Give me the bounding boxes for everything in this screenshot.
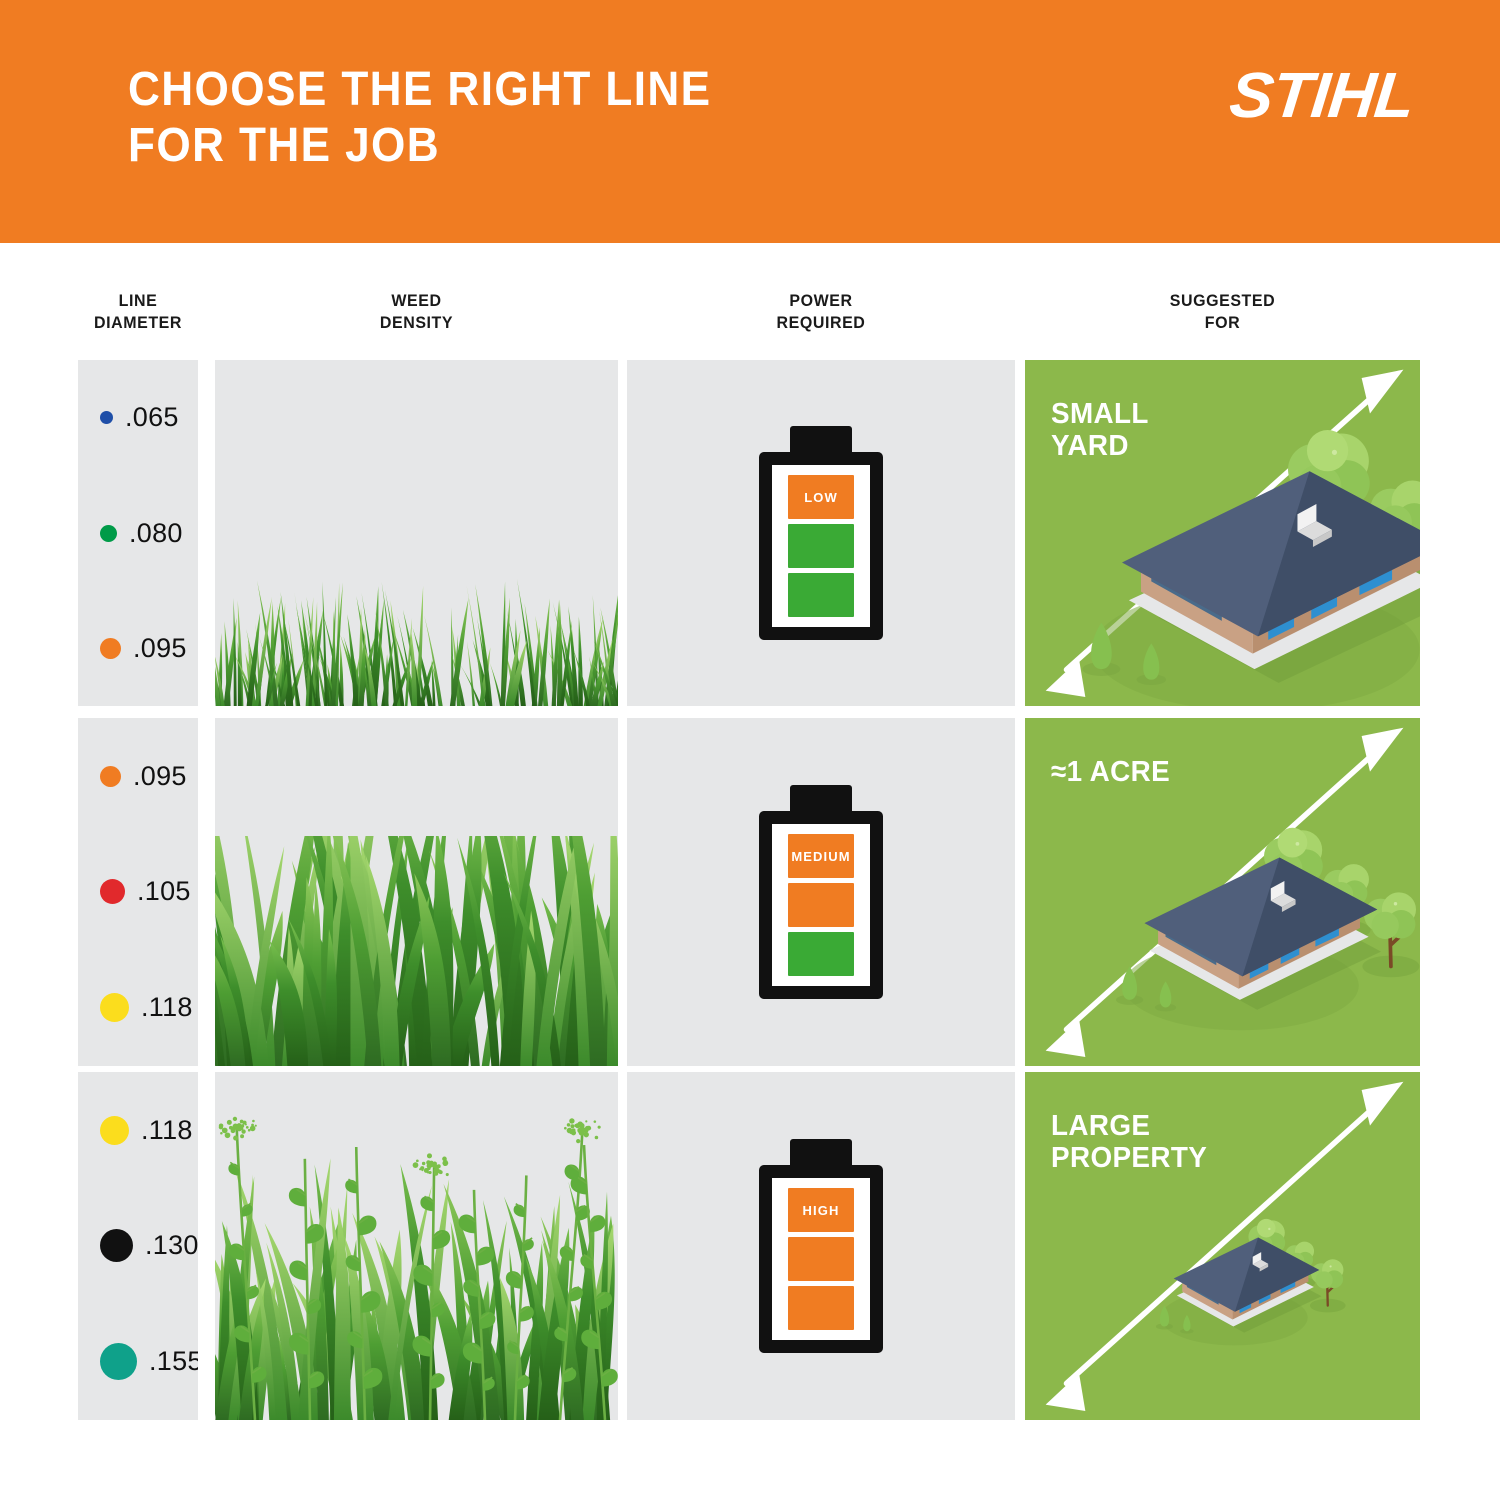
grass-illustration xyxy=(215,1090,618,1420)
property-size-label: SMALL YARD xyxy=(1051,398,1149,463)
line-diameter-item: .118 xyxy=(78,950,198,1066)
weed-density-cell xyxy=(215,1072,618,1420)
battery-inner: HIGH xyxy=(772,1178,870,1340)
battery-segment xyxy=(788,524,854,568)
battery-segment xyxy=(788,1286,854,1330)
line-diameter-label: .155 xyxy=(149,1346,198,1377)
line-diameter-dot-icon xyxy=(100,993,129,1022)
property-size-line2: PROPERTY xyxy=(1051,1142,1207,1174)
battery-body: MEDIUM xyxy=(759,811,883,999)
property-size-line1: SMALL xyxy=(1051,398,1149,430)
line-diameter-label: .080 xyxy=(129,518,183,549)
battery-icon: MEDIUM xyxy=(759,785,883,999)
line-diameter-dot-icon xyxy=(100,1229,133,1262)
line-diameter-item: .118 xyxy=(78,1072,198,1188)
line-diameter-dot-icon xyxy=(100,766,121,787)
line-diameter-item: .130 xyxy=(78,1188,198,1304)
battery-body: LOW xyxy=(759,452,883,640)
line-diameter-label: .095 xyxy=(133,633,187,664)
battery-terminal-icon xyxy=(790,1139,852,1167)
line-diameter-item: .095 xyxy=(78,718,198,834)
property-size-label: ≈1 ACRE xyxy=(1051,756,1170,788)
battery-segment xyxy=(788,932,854,976)
line-diameter-item: .095 xyxy=(78,591,198,706)
battery-inner: MEDIUM xyxy=(772,824,870,986)
line-diameter-cell: .118.130.155 xyxy=(78,1072,198,1420)
line-diameter-label: .095 xyxy=(133,761,187,792)
battery-terminal-icon xyxy=(790,426,852,454)
comparison-table: .065.080.095 LOW xyxy=(0,0,1500,1500)
battery-segment: MEDIUM xyxy=(788,834,854,878)
line-diameter-item: .155 xyxy=(78,1304,198,1420)
property-size-line2: YARD xyxy=(1051,430,1149,462)
battery-body: HIGH xyxy=(759,1165,883,1353)
line-diameter-cell: .095.105.118 xyxy=(78,718,198,1066)
battery-segment xyxy=(788,573,854,617)
line-diameter-dot-icon xyxy=(100,1116,129,1145)
weed-density-cell xyxy=(215,360,618,706)
battery-inner: LOW xyxy=(772,465,870,627)
line-diameter-item: .105 xyxy=(78,834,198,950)
battery-segment xyxy=(788,883,854,927)
weed-density-cell xyxy=(215,718,618,1066)
line-diameter-label: .118 xyxy=(141,1115,193,1146)
battery-icon: LOW xyxy=(759,426,883,640)
line-diameter-item: .080 xyxy=(78,475,198,590)
line-diameter-dot-icon xyxy=(100,525,117,542)
power-required-cell: MEDIUM xyxy=(627,718,1015,1066)
battery-terminal-icon xyxy=(790,785,852,813)
line-diameter-item: .065 xyxy=(78,360,198,475)
line-diameter-dot-icon xyxy=(100,1343,137,1380)
line-diameter-dot-icon xyxy=(100,411,113,424)
line-diameter-label: .105 xyxy=(137,876,191,907)
battery-icon: HIGH xyxy=(759,1139,883,1353)
suggested-for-cell: LARGE PROPERTY xyxy=(1025,1072,1420,1420)
property-size-line1: LARGE xyxy=(1051,1110,1207,1142)
battery-level-label: LOW xyxy=(804,490,838,505)
line-diameter-cell: .065.080.095 xyxy=(78,360,198,706)
suggested-for-cell: ≈1 ACRE xyxy=(1025,718,1420,1066)
battery-level-label: HIGH xyxy=(803,1203,840,1218)
property-size-line1: ≈1 ACRE xyxy=(1051,756,1170,788)
battery-segment xyxy=(788,1237,854,1281)
power-required-cell: HIGH xyxy=(627,1072,1015,1420)
battery-segment: HIGH xyxy=(788,1188,854,1232)
line-diameter-dot-icon xyxy=(100,638,121,659)
line-diameter-label: .130 xyxy=(145,1230,198,1261)
line-diameter-dot-icon xyxy=(100,879,125,904)
line-diameter-label: .118 xyxy=(141,992,193,1023)
property-size-label: LARGE PROPERTY xyxy=(1051,1110,1207,1175)
grass-illustration xyxy=(215,546,618,706)
power-required-cell: LOW xyxy=(627,360,1015,706)
battery-segment: LOW xyxy=(788,475,854,519)
line-diameter-label: .065 xyxy=(125,402,179,433)
grass-illustration xyxy=(215,836,618,1066)
battery-level-label: MEDIUM xyxy=(791,849,850,864)
suggested-for-cell: SMALL YARD xyxy=(1025,360,1420,706)
